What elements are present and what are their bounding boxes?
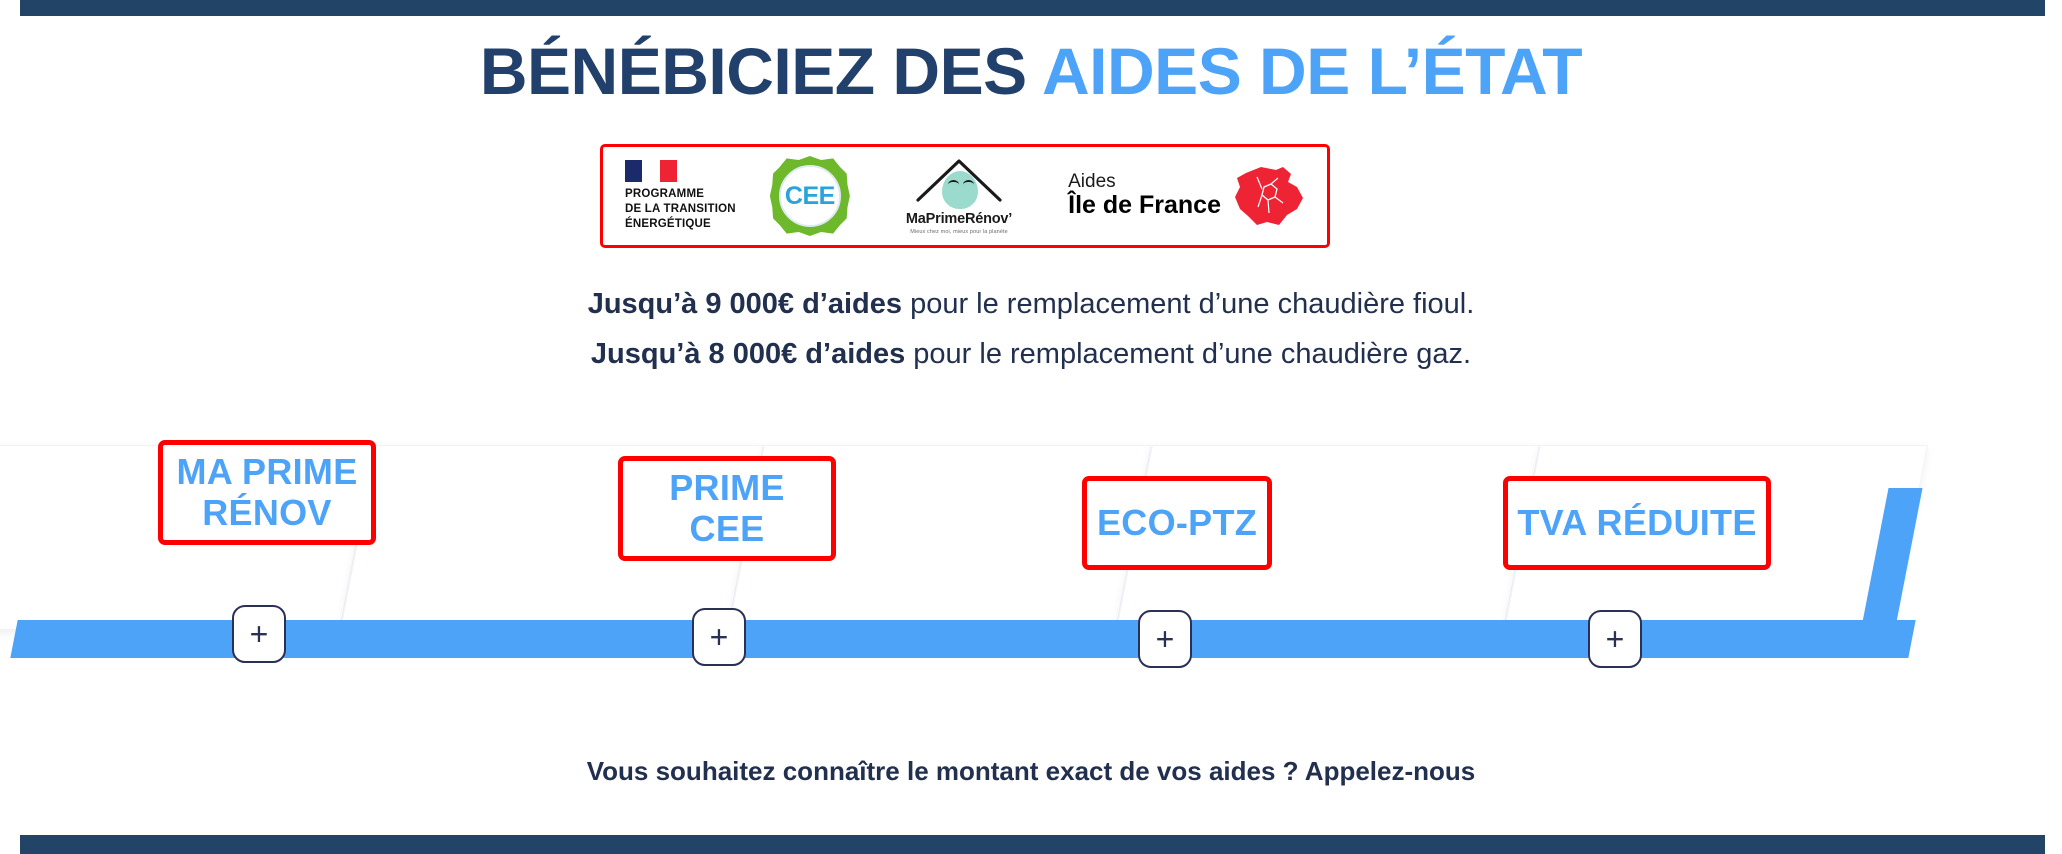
idf-line2: Île de France [1068,192,1221,220]
page-title-part-one: BÉNÉBICIEZ DES [480,34,1042,108]
cee-label: CEE [785,184,835,209]
partner-logo-strip: PROGRAMME DE LA TRANSITION ÉNERGÉTIQUE C… [600,144,1330,248]
maprimerenov-name: MaPrimeRénov’ [906,211,1012,227]
page-title: BÉNÉBICIEZ DES AIDES DE L’ÉTAT [0,38,2062,104]
blob-eye-left-icon [948,180,959,189]
logo-programme-transition-energetique: PROGRAMME DE LA TRANSITION ÉNERGÉTIQUE [625,160,736,233]
maprimerenov-tagline: Mieux chez moi, mieux pour la planète [910,229,1008,235]
aid-chip-tva-reduite[interactable]: TVA RÉDUITE [1503,476,1771,570]
aid-chip-2-line1: ECO-PTZ [1097,502,1257,543]
logo-aides-ile-de-france: Aides Île de France [1068,165,1305,227]
subtitle-line-fioul: Jusqu’à 9 000€ d’aides pour le remplacem… [0,288,2062,321]
cee-inner-circle: CEE [779,165,841,227]
subtitle-line-gaz: Jusqu’à 8 000€ d’aides pour le remplacem… [0,338,2062,371]
logo-programme-line1: PROGRAMME [625,187,736,202]
subtitle-fioul-amount: Jusqu’à 9 000€ d’aides [588,288,902,320]
logo-maprimerenov: MaPrimeRénov’ Mieux chez moi, mieux pour… [884,158,1034,235]
subtitle-gaz-amount: Jusqu’à 8 000€ d’aides [591,338,905,370]
idf-line1: Aides [1068,172,1221,192]
aid-chip-prime-cee[interactable]: PRIME CEE [618,456,836,561]
subtitle-gaz-rest: pour le remplacement d’une chaudière gaz… [905,338,1471,370]
logo-programme-line2: DE LA TRANSITION [625,202,736,217]
ile-de-france-map-icon [1231,165,1305,227]
logo-programme-text: PROGRAMME DE LA TRANSITION ÉNERGÉTIQUE [625,187,736,233]
plus-icon: + [1606,623,1625,655]
aid-chip-0-line1: MA PRIME [176,451,357,492]
aid-chip-ma-prime-renov[interactable]: MA PRIME RÉNOV [158,440,376,545]
expand-button-ma-prime-renov[interactable]: + [232,605,286,663]
aid-chip-3-line1: TVA RÉDUITE [1517,502,1756,543]
aid-chip-1-line1: PRIME [669,467,785,508]
french-flag-icon [625,160,677,182]
subtitle-fioul-rest: pour le remplacement d’une chaudière fio… [902,288,1474,320]
logo-cee: CEE [770,156,850,236]
logo-programme-line3: ÉNERGÉTIQUE [625,217,736,232]
expand-button-prime-cee[interactable]: + [692,608,746,666]
idf-text-block: Aides Île de France [1068,172,1221,219]
aid-chip-1-line2: CEE [690,508,765,549]
page-title-part-two: AIDES DE L’ÉTAT [1042,34,1582,108]
call-to-action-text: Vous souhaitez connaître le montant exac… [0,756,2062,787]
aid-chip-eco-ptz[interactable]: ECO-PTZ [1082,476,1272,570]
aids-banner: MA PRIME RÉNOV PRIME CEE ECO-PTZ TVA RÉD… [0,445,2062,670]
expand-button-eco-ptz[interactable]: + [1138,610,1192,668]
blob-eye-right-icon [963,180,974,189]
plus-icon: + [1156,623,1175,655]
plus-icon: + [710,621,729,653]
maprimerenov-house-icon [916,158,1002,208]
cee-badge-icon: CEE [770,156,850,236]
expand-button-tva-reduite[interactable]: + [1588,610,1642,668]
top-divider-bar [20,0,2045,16]
smiling-blob-icon [942,171,978,209]
aid-chip-0-line2: RÉNOV [202,492,332,533]
bottom-divider-bar [20,835,2045,854]
plus-icon: + [250,618,269,650]
